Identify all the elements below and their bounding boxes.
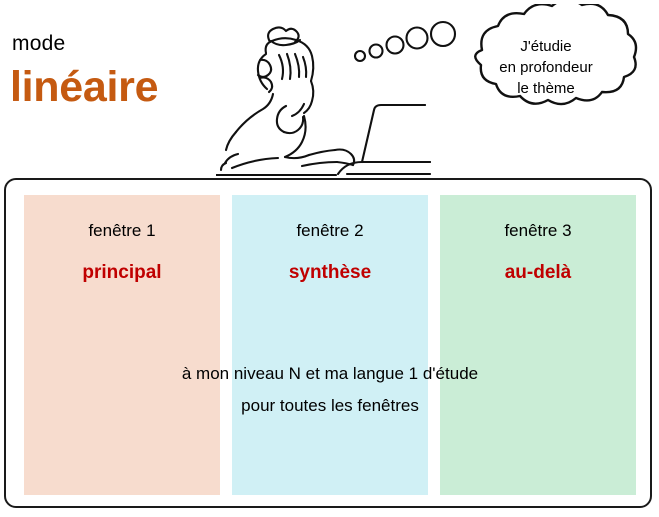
header-area: mode linéaire: [0, 0, 659, 178]
cloud-text-line-2: en profondeur: [455, 57, 637, 78]
window-column-2-subtitle: synthèse: [232, 261, 428, 285]
window-column-3-title: fenêtre 3: [440, 220, 636, 242]
window-column-2[interactable]: fenêtre 2 synthèse: [232, 195, 428, 495]
window-column-3[interactable]: fenêtre 3 au-delà: [440, 195, 636, 495]
cloud-text-line-1: J'étudie: [455, 36, 637, 57]
windows-panel: fenêtre 1 principal fenêtre 2 synthèse f…: [4, 178, 652, 508]
window-column-1-title: fenêtre 1: [24, 220, 220, 242]
window-column-3-subtitle: au-delà: [440, 261, 636, 285]
thought-cloud-text: J'étudie en profondeur le thème: [455, 36, 637, 99]
window-column-1[interactable]: fenêtre 1 principal: [24, 195, 220, 495]
cloud-text-line-3: le thème: [455, 78, 637, 99]
windows-columns: fenêtre 1 principal fenêtre 2 synthèse f…: [24, 195, 636, 495]
mode-label: mode: [12, 32, 65, 56]
window-column-1-subtitle: principal: [24, 261, 220, 285]
page-title: linéaire: [10, 62, 158, 112]
window-column-2-title: fenêtre 2: [232, 220, 428, 242]
